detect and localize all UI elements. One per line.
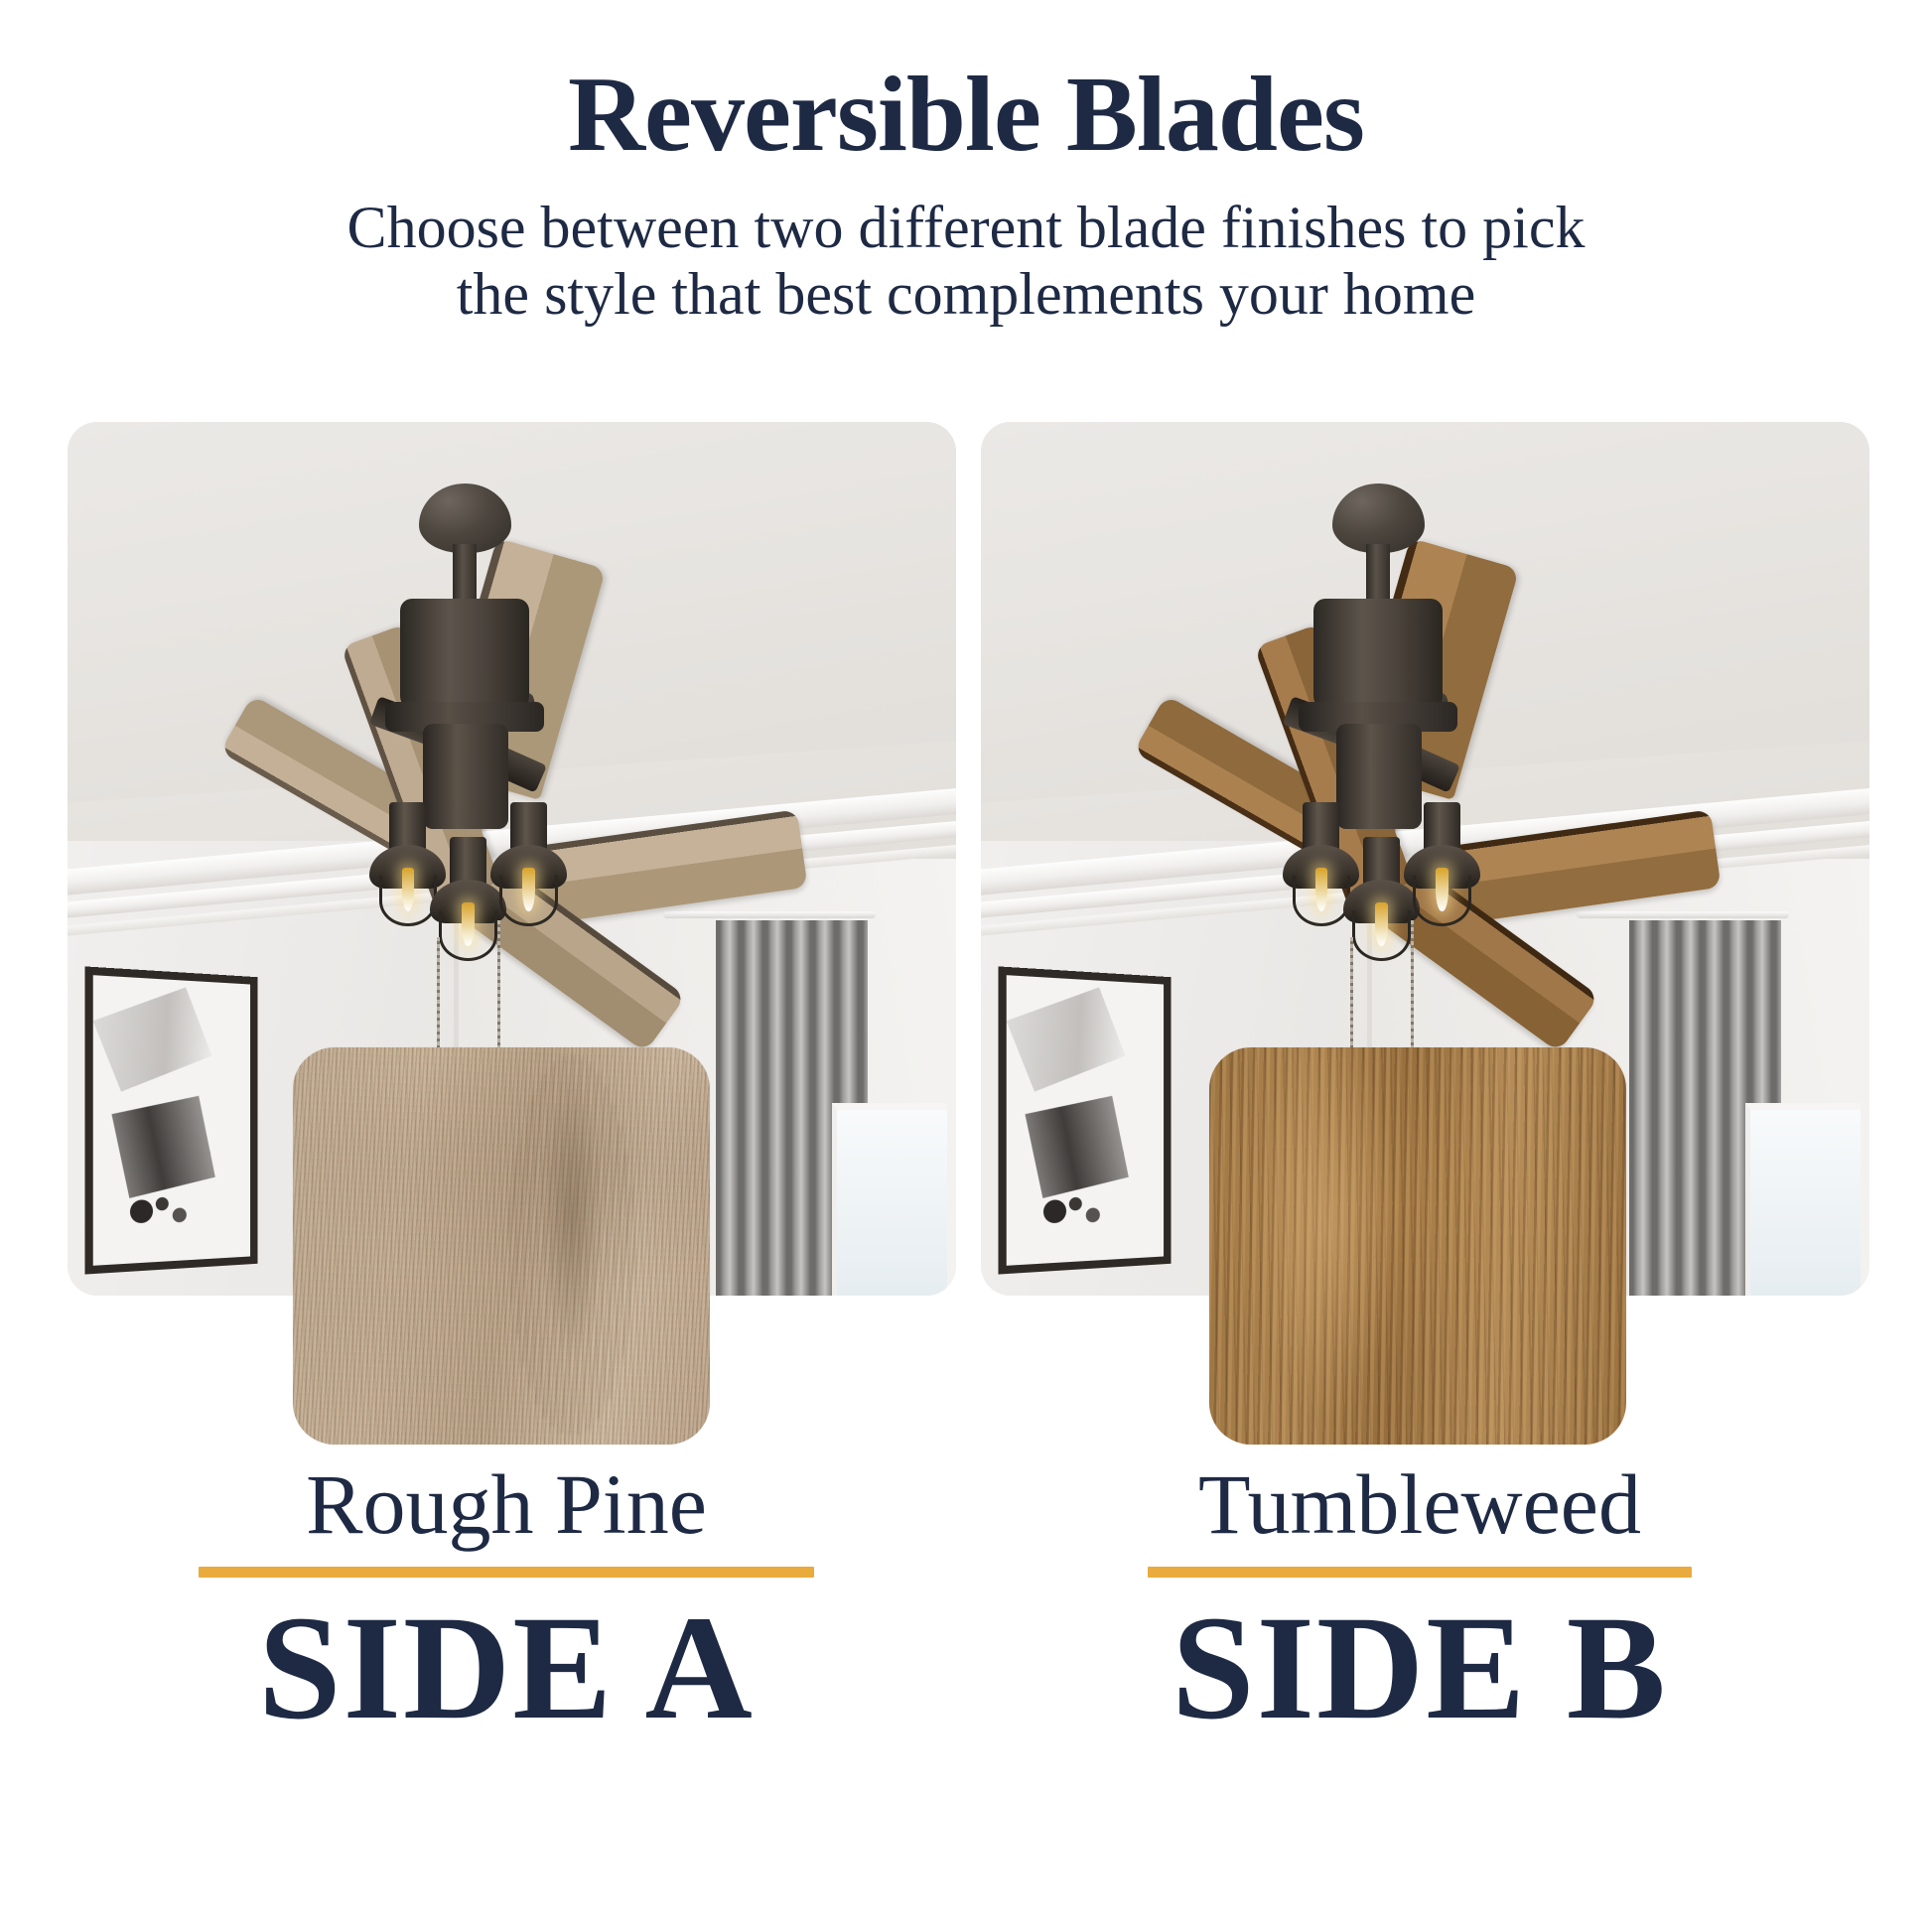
caged-light: [1404, 802, 1480, 929]
pull-chain[interactable]: [1350, 937, 1353, 1059]
header: Reversible Blades Choose between two dif…: [0, 0, 1932, 328]
wood-grain-texture: [293, 1047, 710, 1445]
gold-divider: [1148, 1567, 1692, 1578]
fan-canopy: [419, 483, 512, 553]
finish-swatch-tumbleweed[interactable]: [1209, 1047, 1626, 1445]
page-subtitle: Choose between two different blade finis…: [0, 169, 1932, 328]
fan-downrod: [1366, 544, 1389, 606]
finish-label-group-side-b: Tumbleweed SIDE B: [983, 1459, 1857, 1742]
fan-motor-housing: [400, 599, 530, 712]
fan-canopy: [1332, 483, 1426, 553]
pull-chain[interactable]: [497, 920, 500, 1051]
subtitle-line-1: Choose between two different blade finis…: [0, 195, 1932, 261]
fan-downrod: [453, 544, 476, 606]
side-label-a: SIDE A: [69, 1578, 943, 1742]
pull-chain[interactable]: [1411, 920, 1414, 1051]
pull-chain[interactable]: [437, 937, 440, 1059]
finish-label-group-side-a: Rough Pine SIDE A: [69, 1459, 943, 1742]
wood-grain-highlight: [1243, 1047, 1410, 1445]
finish-swatch-rough-pine[interactable]: [293, 1047, 710, 1445]
page-title: Reversible Blades: [0, 0, 1932, 169]
finish-name-side-b: Tumbleweed: [983, 1459, 1857, 1549]
subtitle-line-2: the style that best complements your hom…: [0, 261, 1932, 328]
side-label-b: SIDE B: [983, 1578, 1857, 1742]
finish-name-side-a: Rough Pine: [69, 1459, 943, 1549]
wood-knot-grain: [509, 1055, 634, 1437]
caged-light: [490, 802, 567, 929]
gold-divider: [199, 1567, 814, 1578]
fan-motor-housing: [1313, 599, 1444, 712]
